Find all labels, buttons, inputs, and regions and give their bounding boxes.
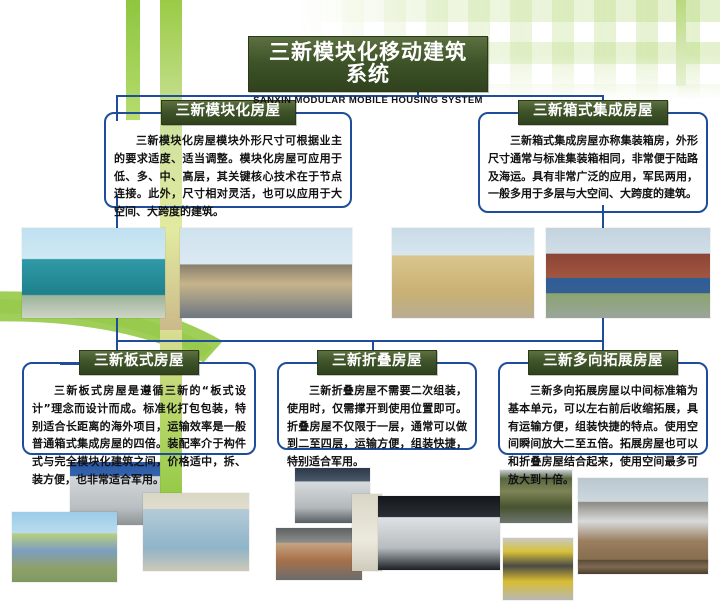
photo-cad-cutaway: [143, 493, 249, 571]
panel-body-text: 三新折叠房屋不需要二次组装，使用时，仅需撑开到使用位置即可。折叠房屋不仅限于一层…: [277, 375, 477, 479]
poster-canvas: 三新模块化移动建筑系统 SANXIN MODULAR MOBILE HOUSIN…: [0, 0, 720, 604]
page-subtitle: SANXIN MODULAR MOBILE HOUSING SYSTEM: [248, 95, 488, 106]
photo-crane-lifting: [180, 228, 352, 318]
panel-heading: 三新板式房屋: [79, 350, 199, 375]
panel-container-house[interactable]: 三新箱式集成房屋 三新箱式集成房屋亦称集装箱房，外形尺寸通常与标准集装箱相同，非…: [478, 100, 708, 213]
panel-body-text: 三新箱式集成房屋亦称集装箱房，外形尺寸通常与标准集装箱相同，非常便于陆路及海运。…: [478, 125, 708, 211]
panel-body-text: 三新模块化房屋模块外形尺寸可根据业主的要求适度、适当调整。模块化房屋可应用于低、…: [104, 125, 352, 229]
panel-folding-house[interactable]: 三新折叠房屋 三新折叠房屋不需要二次组装，使用时，仅需撑开到使用位置即可。折叠房…: [277, 350, 477, 450]
photo-forklift-load: [276, 528, 362, 580]
photo-container-campus: [22, 228, 165, 318]
panel-expandable-house[interactable]: 三新多向拓展房屋 三新多向拓展房屋以中间标准箱为基本单元，可以左右前后收缩拓展，…: [498, 350, 708, 455]
photo-folding-open: [378, 496, 500, 570]
photo-two-storey-unit: [392, 228, 534, 318]
panel-body-text: 三新多向拓展房屋以中间标准箱为基本单元，可以左右前后收缩拓展，具有运输方便，组装…: [498, 375, 708, 497]
panel-heading: 三新箱式集成房屋: [518, 100, 668, 125]
photo-ground-strip: [578, 560, 708, 574]
panel-modular-house[interactable]: 三新模块化房屋 三新模块化房屋模块外形尺寸可根据业主的要求适度、适当调整。模块化…: [104, 100, 352, 208]
connector-mid-bridge: [116, 340, 604, 342]
page-title: 三新模块化移动建筑系统: [248, 36, 488, 92]
photo-yellow-expandable: [503, 538, 573, 600]
poster-title-block: 三新模块化移动建筑系统 SANXIN MODULAR MOBILE HOUSIN…: [248, 36, 488, 106]
green-stripe-right: [676, 0, 686, 86]
photo-container-expo: [546, 228, 710, 318]
panel-heading: 三新折叠房屋: [317, 350, 437, 375]
photo-modular-villa: [12, 512, 117, 582]
panel-heading: 三新多向拓展房屋: [528, 350, 678, 375]
panel-flatpack-house[interactable]: 三新板式房屋 三新板式房屋是遵循三新的“板式设计”理念而设计而成。标准化打包包装…: [22, 350, 256, 455]
panel-body-text: 三新板式房屋是遵循三新的“板式设计”理念而设计而成。标准化打包包装，特别适合长距…: [22, 375, 256, 497]
